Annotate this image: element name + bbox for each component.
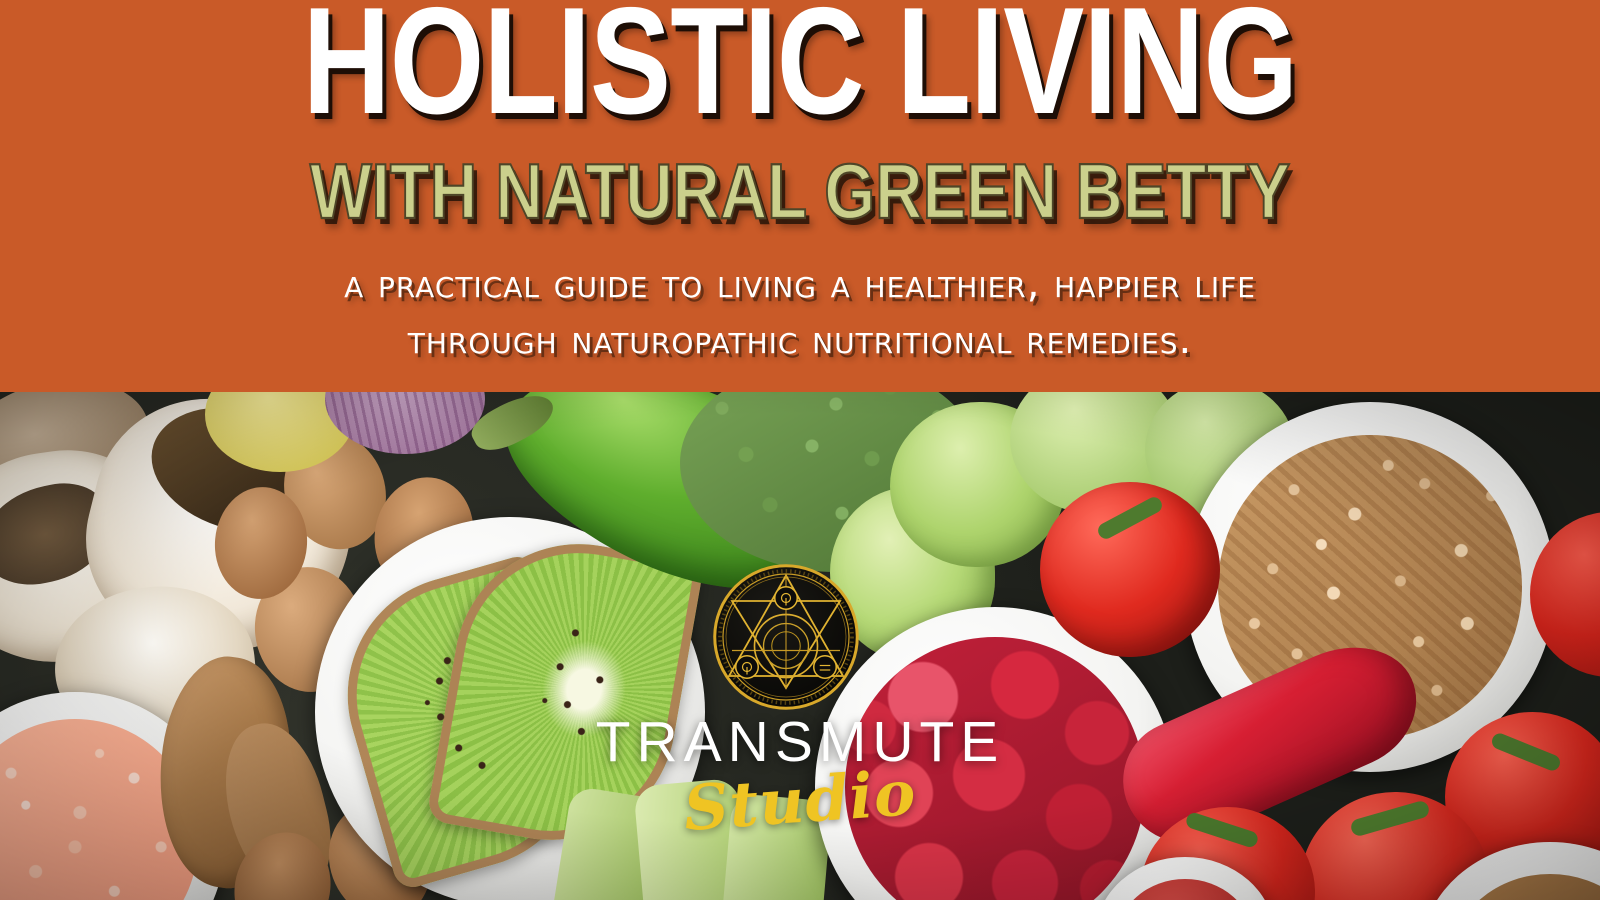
tagline-line-1: a practical guide to living a healthier,… <box>0 258 1600 310</box>
poster-canvas: HOLISTIC LIVING WITH NATURAL GREEN BETTY… <box>0 0 1600 900</box>
page-title: HOLISTIC LIVING <box>160 0 1440 136</box>
food-photo-collage <box>0 392 1600 900</box>
header-banner: HOLISTIC LIVING WITH NATURAL GREEN BETTY… <box>0 0 1600 392</box>
tagline-line-2: through naturopathic nutritional remedie… <box>0 314 1600 366</box>
page-subtitle: WITH NATURAL GREEN BETTY <box>128 151 1472 231</box>
